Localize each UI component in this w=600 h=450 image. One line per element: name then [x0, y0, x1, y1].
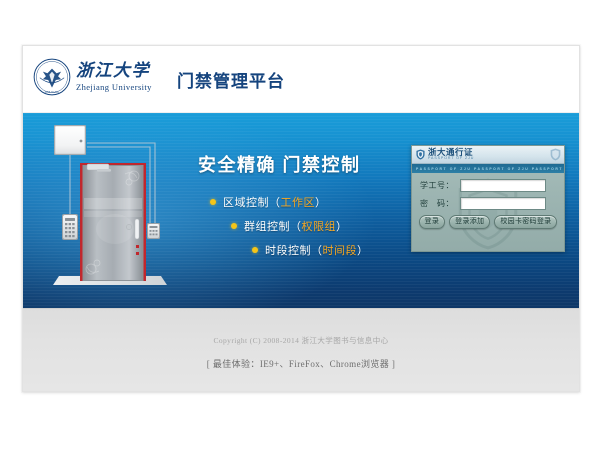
login-panel-title-stack: 浙大通行证 PASSPORT OF ZJU — [425, 148, 474, 160]
browser-compatibility-note: [ 最佳体验：IE9+、FireFox、Chrome浏览器 ] — [23, 357, 579, 370]
brand-name-en: Zhejiang University — [76, 83, 152, 92]
corner-shield-icon — [550, 148, 561, 161]
login-add-button[interactable]: 登录添加 — [449, 215, 490, 229]
student-staff-id-label: 学工号： — [420, 180, 460, 191]
bullet-dot-icon — [231, 223, 237, 229]
student-staff-id-row: 学工号： — [412, 179, 564, 192]
brand[interactable]: ZHEJIANG 浙江大学 Zhejiang University — [33, 58, 152, 96]
card-reader — [147, 223, 160, 239]
feature-item-time-control: 时段控制（ 时间段 ） — [252, 242, 418, 258]
copyright-text: Copyright (C) 2008-2014 浙江大学图书与信息中心 — [23, 309, 579, 346]
feature-item-group-control: 群组控制（ 权限组 ） — [231, 218, 418, 234]
keypad-reader — [62, 214, 78, 240]
feature-item-area-control: 区域控制（ 工作区 ） — [210, 194, 418, 210]
brand-text: 浙江大学 Zhejiang University — [76, 63, 152, 92]
login-panel: 浙大通行证 PASSPORT OF ZJU PASSPORT OF ZJU PA… — [411, 145, 565, 252]
zju-seal-icon: ZHEJIANG — [33, 58, 71, 96]
page-root: ZHEJIANG 浙江大学 Zhejiang University 门禁管理平台 — [0, 0, 600, 450]
site-footer: Copyright (C) 2008-2014 浙江大学图书与信息中心 [ 最佳… — [23, 308, 579, 392]
svg-text:ZHEJIANG: ZHEJIANG — [45, 91, 60, 94]
feature-label: 群组控制（ — [244, 218, 302, 234]
bullet-dot-icon — [210, 199, 216, 205]
hero-banner: 安全精确 门禁控制 区域控制（ 工作区 ） 群组控制（ 权限组 ） — [23, 113, 579, 308]
feature-tail: ） — [336, 218, 348, 234]
page-title: 门禁管理平台 — [177, 67, 285, 92]
watermark-text: PASSPORT OF ZJU PASSPORT OF ZJU PASSPORT… — [412, 167, 564, 171]
feature-tail: ） — [315, 194, 327, 210]
login-panel-subtitle: PASSPORT OF ZJU — [428, 157, 474, 161]
login-form: 学工号： 密 码： 登录 登录添加 校园卡密码登录 — [412, 173, 564, 229]
content-card: ZHEJIANG 浙江大学 Zhejiang University 门禁管理平台 — [22, 45, 580, 392]
site-header: ZHEJIANG 浙江大学 Zhejiang University 门禁管理平台 — [23, 46, 579, 113]
password-field[interactable] — [460, 197, 546, 210]
feature-highlight: 权限组 — [302, 218, 337, 234]
hero-headline: 安全精确 门禁控制 — [198, 151, 418, 177]
door-access-control-illustration — [37, 119, 187, 305]
hero-copy: 安全精确 门禁控制 区域控制（ 工作区 ） 群组控制（ 权限组 ） — [198, 151, 418, 266]
password-row: 密 码： — [412, 197, 564, 210]
feature-highlight: 工作区 — [281, 194, 316, 210]
feature-highlight: 时间段 — [323, 242, 358, 258]
shield-icon — [416, 149, 425, 160]
login-panel-titlebar: 浙大通行证 PASSPORT OF ZJU — [412, 146, 564, 164]
feature-tail: ） — [357, 242, 369, 258]
feature-label: 时段控制（ — [265, 242, 323, 258]
passport-watermark-strip: PASSPORT OF ZJU PASSPORT OF ZJU PASSPORT… — [412, 164, 564, 173]
password-label: 密 码： — [420, 198, 460, 209]
controller-box — [54, 125, 86, 155]
student-staff-id-field[interactable] — [460, 179, 546, 192]
bullet-dot-icon — [252, 247, 258, 253]
campus-card-login-button[interactable]: 校园卡密码登录 — [494, 215, 557, 229]
login-button-group: 登录 登录添加 校园卡密码登录 — [412, 215, 564, 229]
feature-label: 区域控制（ — [223, 194, 281, 210]
login-button[interactable]: 登录 — [419, 215, 446, 229]
brand-name-cn: 浙江大学 — [76, 63, 152, 80]
feature-list: 区域控制（ 工作区 ） 群组控制（ 权限组 ） 时段控制（ 时间段 — [198, 194, 418, 258]
